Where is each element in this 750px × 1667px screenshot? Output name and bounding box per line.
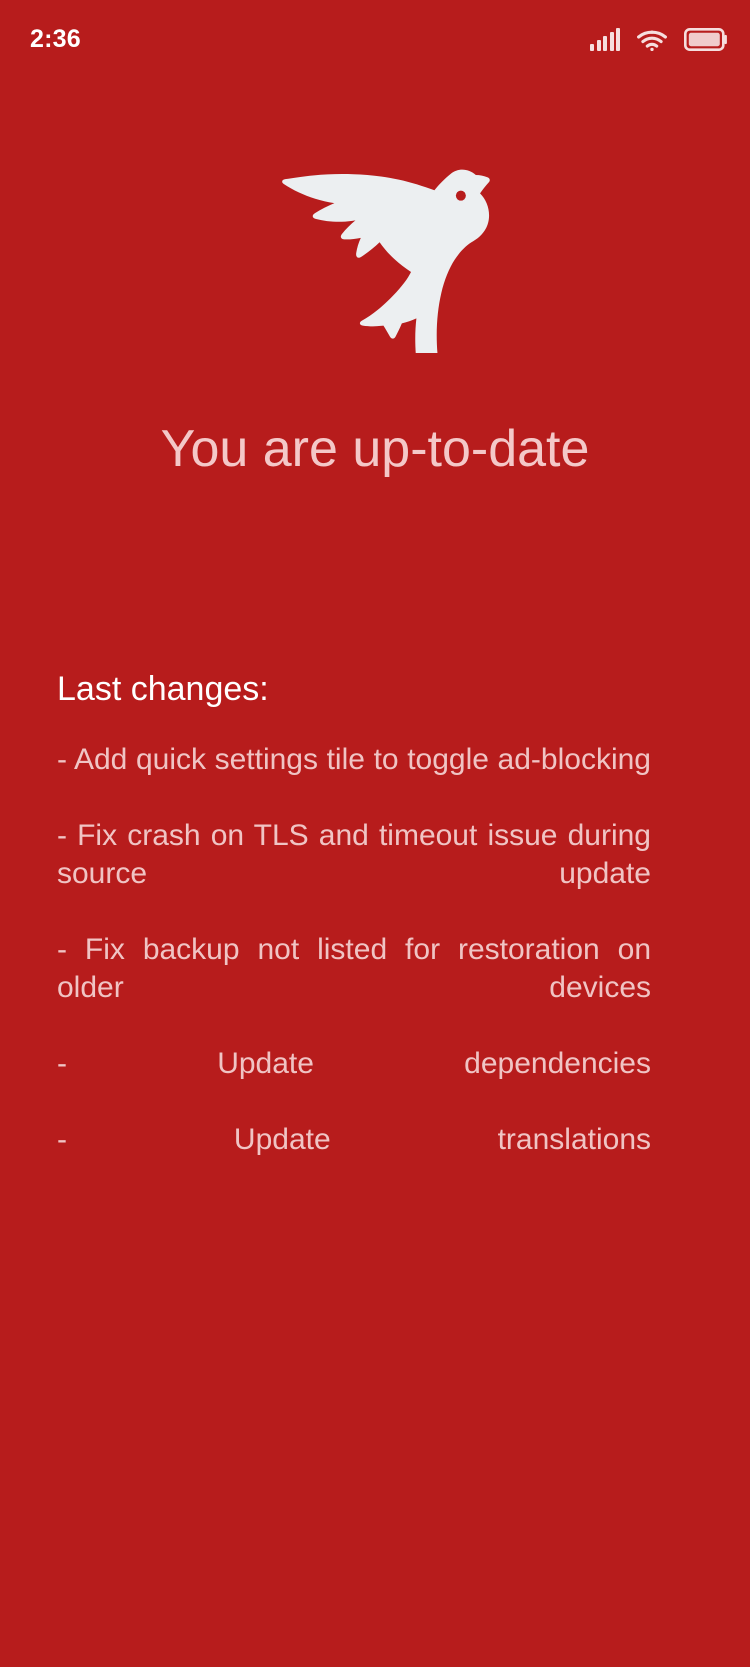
changelog-item: - Update dependencies xyxy=(57,1045,651,1121)
last-changes-section: Last changes: - Add quick settings tile … xyxy=(57,668,651,1198)
page-title: You are up-to-date xyxy=(0,418,750,480)
battery-icon xyxy=(684,28,728,51)
dove-icon xyxy=(260,138,490,353)
last-changes-title: Last changes: xyxy=(57,668,651,711)
changelog-item: - Add quick settings tile to toggle ad-b… xyxy=(57,741,651,817)
changelog-item: - Fix backup not listed for restoration … xyxy=(57,931,651,1045)
status-bar: 2:36 xyxy=(0,0,750,78)
logo-container xyxy=(0,138,750,353)
last-changes-list: - Add quick settings tile to toggle ad-b… xyxy=(57,741,651,1198)
signal-icon xyxy=(590,28,620,51)
status-bar-clock: 2:36 xyxy=(30,27,81,52)
status-bar-icons xyxy=(590,28,728,51)
wifi-icon xyxy=(637,28,667,51)
changelog-item: - Fix crash on TLS and timeout issue dur… xyxy=(57,817,651,931)
changelog-item: - Update translations xyxy=(57,1121,651,1197)
